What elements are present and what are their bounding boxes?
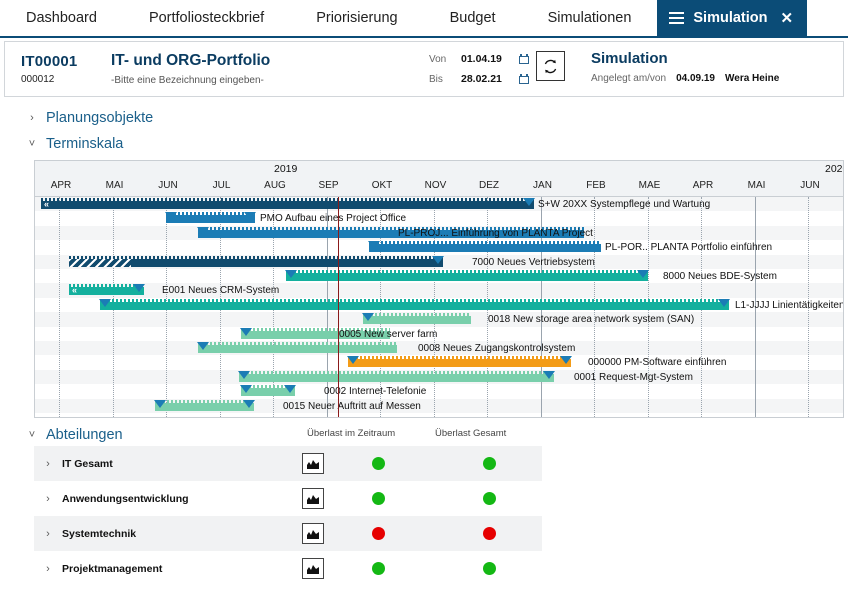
gantt-month-label: APR: [675, 180, 731, 191]
gantt-month-label: JUN: [782, 180, 838, 191]
tab-budget[interactable]: Budget: [424, 0, 522, 36]
gantt-year-label: 2019: [274, 163, 297, 175]
gantt-start-marker-icon: [362, 313, 374, 321]
bis-label: Bis: [429, 74, 451, 85]
gantt-end-marker-icon: [523, 198, 535, 206]
gantt-bar-fill: [100, 302, 729, 310]
section-abteilungen-header: ˅ Abteilungen Überlast im Zeitraum Überl…: [0, 424, 848, 446]
gantt-bar-fill: [239, 374, 554, 382]
tab-simulation[interactable]: Simulation ✕: [657, 0, 807, 36]
gantt-month-label: FEB: [568, 180, 624, 191]
von-label: Von: [429, 54, 451, 65]
created-date: 04.09.19: [676, 73, 715, 84]
gantt-start-marker-icon: [240, 328, 252, 336]
gantt-end-marker-icon: [718, 299, 730, 307]
gantt-bar-label: 0005 New server farm: [339, 329, 437, 340]
gantt-bar-fill: [41, 201, 534, 209]
gantt-month-label: JUL: [194, 180, 250, 191]
calendar-icon[interactable]: [519, 54, 529, 64]
status-badge-gesamt: [483, 527, 496, 540]
portfolio-number: 000012: [21, 74, 105, 85]
gantt-month-label: JUN: [140, 180, 196, 191]
gantt-row-band: [35, 211, 843, 225]
gantt-bar[interactable]: [69, 256, 443, 267]
gantt-month-label: APR: [34, 180, 89, 191]
expand-row-icon[interactable]: ›: [34, 493, 62, 505]
today-marker-line: [338, 197, 339, 418]
simulation-title: Simulation: [591, 50, 779, 67]
status-badge-gesamt: [483, 457, 496, 470]
status-badge-zeitraum: [372, 457, 385, 470]
gantt-bar-fill: [155, 403, 254, 411]
gantt-end-marker-icon: [243, 400, 255, 408]
bar-chart-icon[interactable]: [302, 523, 324, 544]
gantt-bar[interactable]: [155, 400, 254, 411]
column-header-ueberlast-zeitraum: Überlast im Zeitraum: [307, 428, 395, 439]
gantt-row-band: [35, 283, 843, 297]
application-window: Dashboard Portfoliosteckbrief Priorisier…: [0, 0, 848, 594]
gantt-end-marker-icon: [133, 284, 145, 292]
tab-priorisierung[interactable]: Priorisierung: [290, 0, 423, 36]
gantt-bar-fill: [286, 273, 648, 281]
tab-simulationen[interactable]: Simulationen: [522, 0, 658, 36]
simulation-info-block: Simulation Angelegt am/von 04.09.19 Wera…: [591, 50, 779, 84]
gantt-month-label: MAE: [622, 180, 678, 191]
refresh-button[interactable]: [536, 51, 565, 81]
column-header-ueberlast-gesamt: Überlast Gesamt: [435, 428, 506, 439]
gantt-year-label: 2020: [825, 163, 844, 175]
gantt-start-marker-icon: [285, 270, 297, 278]
bar-overflow-left-icon[interactable]: «: [44, 199, 49, 209]
tab-label: Simulation: [693, 10, 767, 26]
gantt-bar-label: 8000 Neues BDE-System: [663, 271, 777, 282]
gantt-bar-label: PL-POR.. PLANTA Portfolio einführen: [605, 242, 772, 253]
table-row[interactable]: ›Anwendungsentwicklung: [34, 481, 542, 516]
gantt-start-marker-icon: [238, 371, 250, 379]
bar-chart-icon[interactable]: [302, 558, 324, 579]
gantt-chart[interactable]: 20192020 APRMAIJUNJULAUGSEPOKTNOVDEZJANF…: [34, 160, 844, 418]
gantt-bar-label: L1-JJJJ Linientätigkeiten JJJJ: [735, 300, 844, 311]
gantt-bar[interactable]: [100, 299, 729, 310]
section-planungsobjekte[interactable]: › Planungsobjekte: [0, 105, 848, 131]
gantt-month-label: SEP: [301, 180, 357, 191]
gantt-bar-fill: [198, 345, 397, 353]
section-label: Terminskala: [46, 136, 123, 152]
table-row[interactable]: ›Projektmanagement: [34, 551, 542, 586]
gantt-bar-label: PL-PROJ... Einführung von PLANTA Project: [398, 228, 593, 239]
gantt-bar[interactable]: [348, 356, 571, 367]
department-name: Projektmanagement: [62, 563, 162, 575]
gantt-bar-label: 7000 Neues Vertriebsystem: [472, 257, 595, 268]
tab-label: Priorisierung: [316, 10, 397, 26]
gantt-start-marker-icon: [154, 400, 166, 408]
chevron-down-icon[interactable]: ˅: [28, 138, 36, 150]
gantt-bar[interactable]: [198, 342, 397, 353]
gantt-month-label: OKT: [354, 180, 410, 191]
portfolio-name-block: IT- und ORG-Portfolio -Bitte eine Bezeic…: [105, 52, 270, 86]
department-name: Anwendungsentwicklung: [62, 493, 189, 505]
tab-portfoliosteckbrief[interactable]: Portfoliosteckbrief: [123, 0, 290, 36]
portfolio-description-input[interactable]: -Bitte eine Bezeichnung eingeben-: [111, 75, 270, 86]
gantt-bar-label: E001 Neues CRM-System: [162, 285, 279, 296]
gantt-start-marker-icon: [165, 212, 177, 220]
gantt-year-scale: 20192020: [35, 161, 843, 179]
status-badge-zeitraum: [372, 492, 385, 505]
portfolio-name: IT- und ORG-Portfolio: [111, 52, 270, 70]
status-badge-zeitraum: [372, 527, 385, 540]
tab-label: Simulationen: [548, 10, 632, 26]
close-icon[interactable]: ✕: [781, 11, 794, 26]
date-to-row: Bis 28.02.21: [429, 69, 529, 89]
section-label: Abteilungen: [46, 427, 123, 443]
created-by: Wera Heine: [725, 73, 779, 84]
von-input[interactable]: 01.04.19: [461, 53, 509, 65]
tab-label: Portfoliosteckbrief: [149, 10, 264, 26]
gantt-bar-label: 0002 Internet-Telefonie: [324, 386, 426, 397]
bar-overflow-left-icon[interactable]: «: [72, 285, 77, 295]
gantt-start-marker-icon: [347, 356, 359, 364]
gantt-month-scale: APRMAIJUNJULAUGSEPOKTNOVDEZJANFEBMAEAPRM…: [35, 179, 843, 197]
created-label: Angelegt am/von: [591, 73, 666, 84]
gantt-month-label: NOV: [408, 180, 464, 191]
department-name: Systemtechnik: [62, 528, 136, 540]
gantt-end-marker-icon: [244, 212, 256, 220]
expand-row-icon[interactable]: ›: [34, 528, 62, 540]
gantt-bar-label: PMO Aufbau eines Project Office: [260, 213, 406, 224]
gantt-bar-fill: [369, 244, 601, 252]
gantt-bar[interactable]: [286, 270, 648, 281]
gantt-bar[interactable]: [363, 313, 471, 324]
abteilungen-table: ›IT Gesamt›Anwendungsentwicklung›Systemt…: [34, 446, 542, 586]
gantt-gridline: [59, 197, 60, 418]
gantt-start-marker-icon: [197, 342, 209, 350]
gantt-bar[interactable]: [239, 371, 554, 382]
status-badge-gesamt: [483, 562, 496, 575]
section-terminskala[interactable]: ˅ Terminskala: [0, 131, 848, 157]
tab-label: Budget: [450, 10, 496, 26]
portfolio-id-block: IT00001 000012: [5, 53, 105, 85]
gantt-start-marker-icon: [197, 227, 209, 235]
gantt-end-marker-icon: [284, 385, 296, 393]
gantt-month-label: AUG: [247, 180, 303, 191]
bar-chart-icon[interactable]: [302, 488, 324, 509]
gantt-rows-area[interactable]: «S+W 20XX Systempflege und WartungPMO Au…: [35, 197, 843, 418]
gantt-month-label: MAI: [87, 180, 143, 191]
bis-input[interactable]: 28.02.21: [461, 73, 509, 85]
calendar-icon[interactable]: [519, 74, 529, 84]
gantt-month-label: JAN: [515, 180, 571, 191]
gantt-bar[interactable]: «: [41, 198, 534, 209]
gantt-bar-fill: [363, 316, 471, 324]
gantt-bar[interactable]: [166, 212, 255, 223]
tab-bar: Dashboard Portfoliosteckbrief Priorisier…: [0, 0, 848, 38]
gantt-row-band: [35, 384, 843, 398]
bar-chart-icon[interactable]: [302, 453, 324, 474]
status-badge-zeitraum: [372, 562, 385, 575]
table-row[interactable]: ›Systemtechnik: [34, 516, 542, 551]
section-abteilungen[interactable]: ˅ Abteilungen: [0, 424, 848, 446]
gantt-month-label: DEZ: [461, 180, 517, 191]
portfolio-header-panel: IT00001 000012 IT- und ORG-Portfolio -Bi…: [4, 41, 844, 97]
tab-dashboard[interactable]: Dashboard: [0, 0, 123, 36]
gantt-end-marker-icon: [432, 256, 444, 264]
gantt-bar-label: S+W 20XX Systempflege und Wartung: [538, 199, 710, 210]
gantt-bar-label: 0001 Request-Mgt-System: [574, 372, 693, 383]
gantt-row-band: [35, 327, 843, 341]
expand-row-icon[interactable]: ›: [34, 458, 62, 470]
tab-label: Dashboard: [26, 10, 97, 26]
gantt-end-marker-icon: [560, 356, 572, 364]
status-badge-gesamt: [483, 492, 496, 505]
hamburger-menu-icon[interactable]: [669, 12, 684, 24]
expand-row-icon[interactable]: ›: [34, 563, 62, 575]
date-from-row: Von 01.04.19: [429, 49, 529, 69]
refresh-icon: [542, 58, 559, 75]
gantt-bar[interactable]: [369, 241, 601, 252]
gantt-end-marker-icon: [543, 371, 555, 379]
portfolio-id: IT00001: [21, 53, 105, 70]
gantt-start-marker-icon: [240, 385, 252, 393]
gantt-bar-label: 0018 New storage area network system (SA…: [488, 314, 694, 325]
gantt-month-label: MAI: [729, 180, 785, 191]
gantt-bar-fill: [166, 215, 255, 223]
chevron-right-icon[interactable]: ›: [28, 112, 36, 124]
date-range-block: Von 01.04.19 Bis 28.02.21: [429, 49, 529, 89]
gantt-bar-label: 000000 PM-Software einführen: [588, 357, 726, 368]
gantt-bar-label: 0008 Neues Zugangskontrolsystem: [418, 343, 575, 354]
gantt-bar-label: 0015 Neuer Auftritt auf Messen: [283, 401, 421, 412]
table-row[interactable]: ›IT Gesamt: [34, 446, 542, 481]
department-name: IT Gesamt: [62, 458, 113, 470]
gantt-start-marker-icon: [99, 299, 111, 307]
section-label: Planungsobjekte: [46, 110, 153, 126]
gantt-bar-hatch: [69, 259, 131, 267]
gantt-end-marker-icon: [637, 270, 649, 278]
gantt-start-marker-icon: [368, 241, 380, 249]
gantt-bar-fill: [348, 359, 571, 367]
chevron-down-icon[interactable]: ˅: [28, 429, 36, 441]
